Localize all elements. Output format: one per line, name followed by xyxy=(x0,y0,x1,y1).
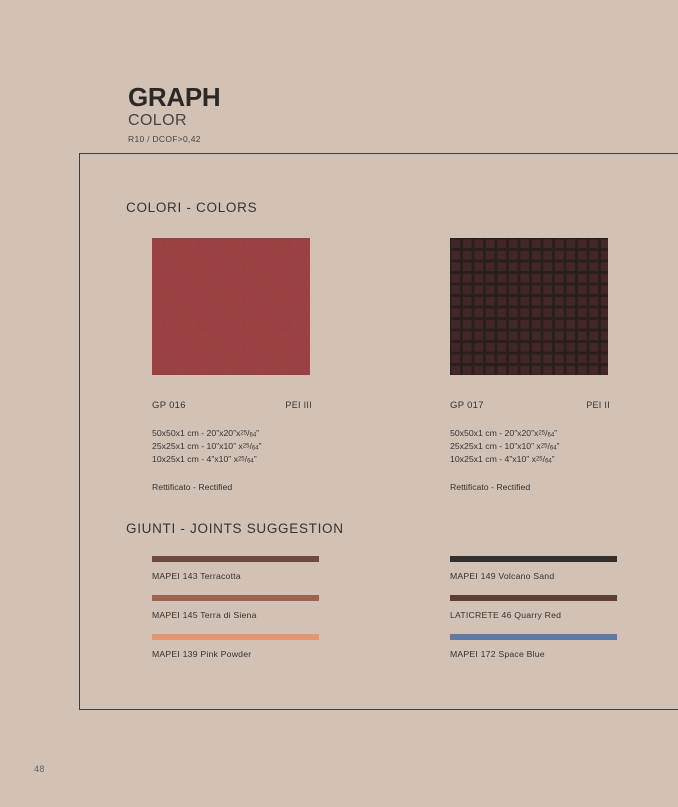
size-line: 10x25x1 cm - 4”x10” x25/64” xyxy=(450,453,610,466)
slip-rating-spec: R10 / DCOF>0,42 xyxy=(128,134,220,144)
joints-section-heading: GIUNTI - JOINTS SUGGESTION xyxy=(126,521,344,536)
product-sizes: 50x50x1 cm - 20”x20”x25/64”25x25x1 cm - … xyxy=(152,427,312,466)
joint-label: MAPEI 143 Terracotta xyxy=(152,571,319,581)
joint-label: MAPEI 145 Terra di Siena xyxy=(152,610,319,620)
catalog-header: GRAPH COLOR R10 / DCOF>0,42 xyxy=(128,84,220,144)
pei-rating: PEI III xyxy=(285,400,312,410)
product-code: GP 016 xyxy=(152,400,186,411)
joint-label: MAPEI 172 Space Blue xyxy=(450,649,617,659)
colors-section-heading: COLORI - COLORS xyxy=(126,200,257,215)
size-line: 25x25x1 cm - 10”x10” x25/64” xyxy=(152,440,312,453)
joint-item[interactable]: MAPEI 143 Terracotta xyxy=(152,556,319,581)
product-code: GP 017 xyxy=(450,400,484,411)
joint-label: MAPEI 139 Pink Powder xyxy=(152,649,319,659)
joint-color-bar xyxy=(450,595,617,601)
joint-color-bar xyxy=(152,595,319,601)
joint-label: MAPEI 149 Volcano Sand xyxy=(450,571,617,581)
product-finish: Rettificato - Rectified xyxy=(450,482,610,492)
page-number: 48 xyxy=(34,764,45,774)
joint-label: LATICRETE 46 Quarry Red xyxy=(450,610,617,620)
product-code-row: GP 017 PEI II xyxy=(450,400,610,411)
page-title: GRAPH xyxy=(128,84,220,110)
product-sizes: 50x50x1 cm - 20”x20”x25/64”25x25x1 cm - … xyxy=(450,427,610,466)
joint-color-bar xyxy=(152,556,319,562)
product-column-left: GP 016 PEI III 50x50x1 cm - 20”x20”x25/6… xyxy=(152,238,312,492)
joints-column-left: MAPEI 143 TerracottaMAPEI 145 Terra di S… xyxy=(152,556,319,673)
size-line: 50x50x1 cm - 20”x20”x25/64” xyxy=(450,427,610,440)
size-line: 25x25x1 cm - 10”x10” x25/64” xyxy=(450,440,610,453)
size-line: 50x50x1 cm - 20”x20”x25/64” xyxy=(152,427,312,440)
pei-rating: PEI II xyxy=(586,400,610,410)
joints-column-right: MAPEI 149 Volcano SandLATICRETE 46 Quarr… xyxy=(450,556,617,673)
joint-item[interactable]: MAPEI 172 Space Blue xyxy=(450,634,617,659)
joint-color-bar xyxy=(450,634,617,640)
page-subtitle: COLOR xyxy=(128,113,220,130)
joint-item[interactable]: MAPEI 139 Pink Powder xyxy=(152,634,319,659)
tile-texture-icon xyxy=(450,238,608,375)
size-line: 10x25x1 cm - 4”x10” x25/64” xyxy=(152,453,312,466)
product-code-row: GP 016 PEI III xyxy=(152,400,312,411)
product-column-right: GP 017 PEI II 50x50x1 cm - 20”x20”x25/64… xyxy=(450,238,610,492)
joint-color-bar xyxy=(152,634,319,640)
tile-texture-icon xyxy=(152,238,310,375)
joint-item[interactable]: MAPEI 149 Volcano Sand xyxy=(450,556,617,581)
product-finish: Rettificato - Rectified xyxy=(152,482,312,492)
tile-swatch-gp017[interactable] xyxy=(450,238,608,375)
joint-item[interactable]: MAPEI 145 Terra di Siena xyxy=(152,595,319,620)
tile-swatch-gp016[interactable] xyxy=(152,238,310,375)
joint-item[interactable]: LATICRETE 46 Quarry Red xyxy=(450,595,617,620)
joint-color-bar xyxy=(450,556,617,562)
